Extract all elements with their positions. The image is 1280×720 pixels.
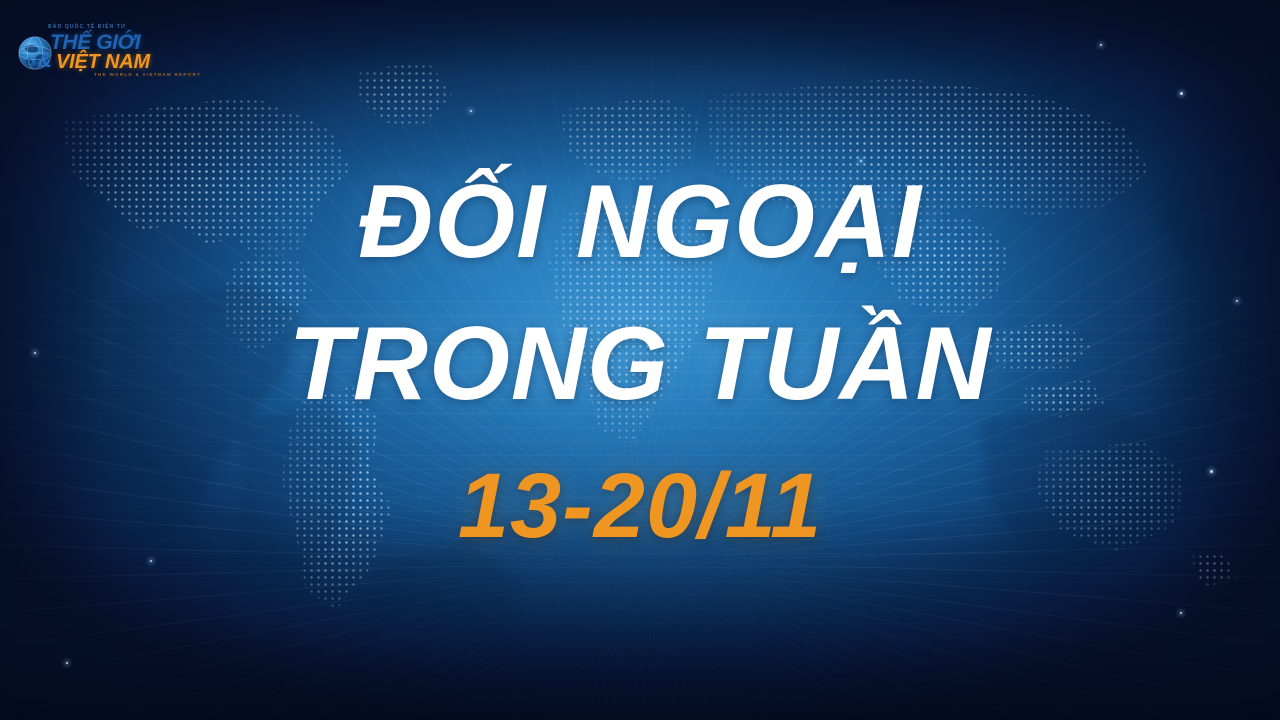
brand-logo[interactable]: BÁO QUỐC TẾ ĐIỆN TỬ THẾ GIỚI & VIỆT NAM … <box>14 24 204 80</box>
title-card: BÁO QUỐC TẾ ĐIỆN TỬ THẾ GIỚI & VIỆT NAM … <box>0 0 1280 720</box>
brand-ampersand: & <box>38 51 52 73</box>
brand-kicker: BÁO QUỐC TẾ ĐIỆN TỬ <box>48 24 126 30</box>
brand-line-2: VIỆT NAM <box>56 51 150 74</box>
brand-subline: THE WORLD & VIETNAM REPORT <box>94 72 201 77</box>
light-sparkles <box>0 0 1280 720</box>
